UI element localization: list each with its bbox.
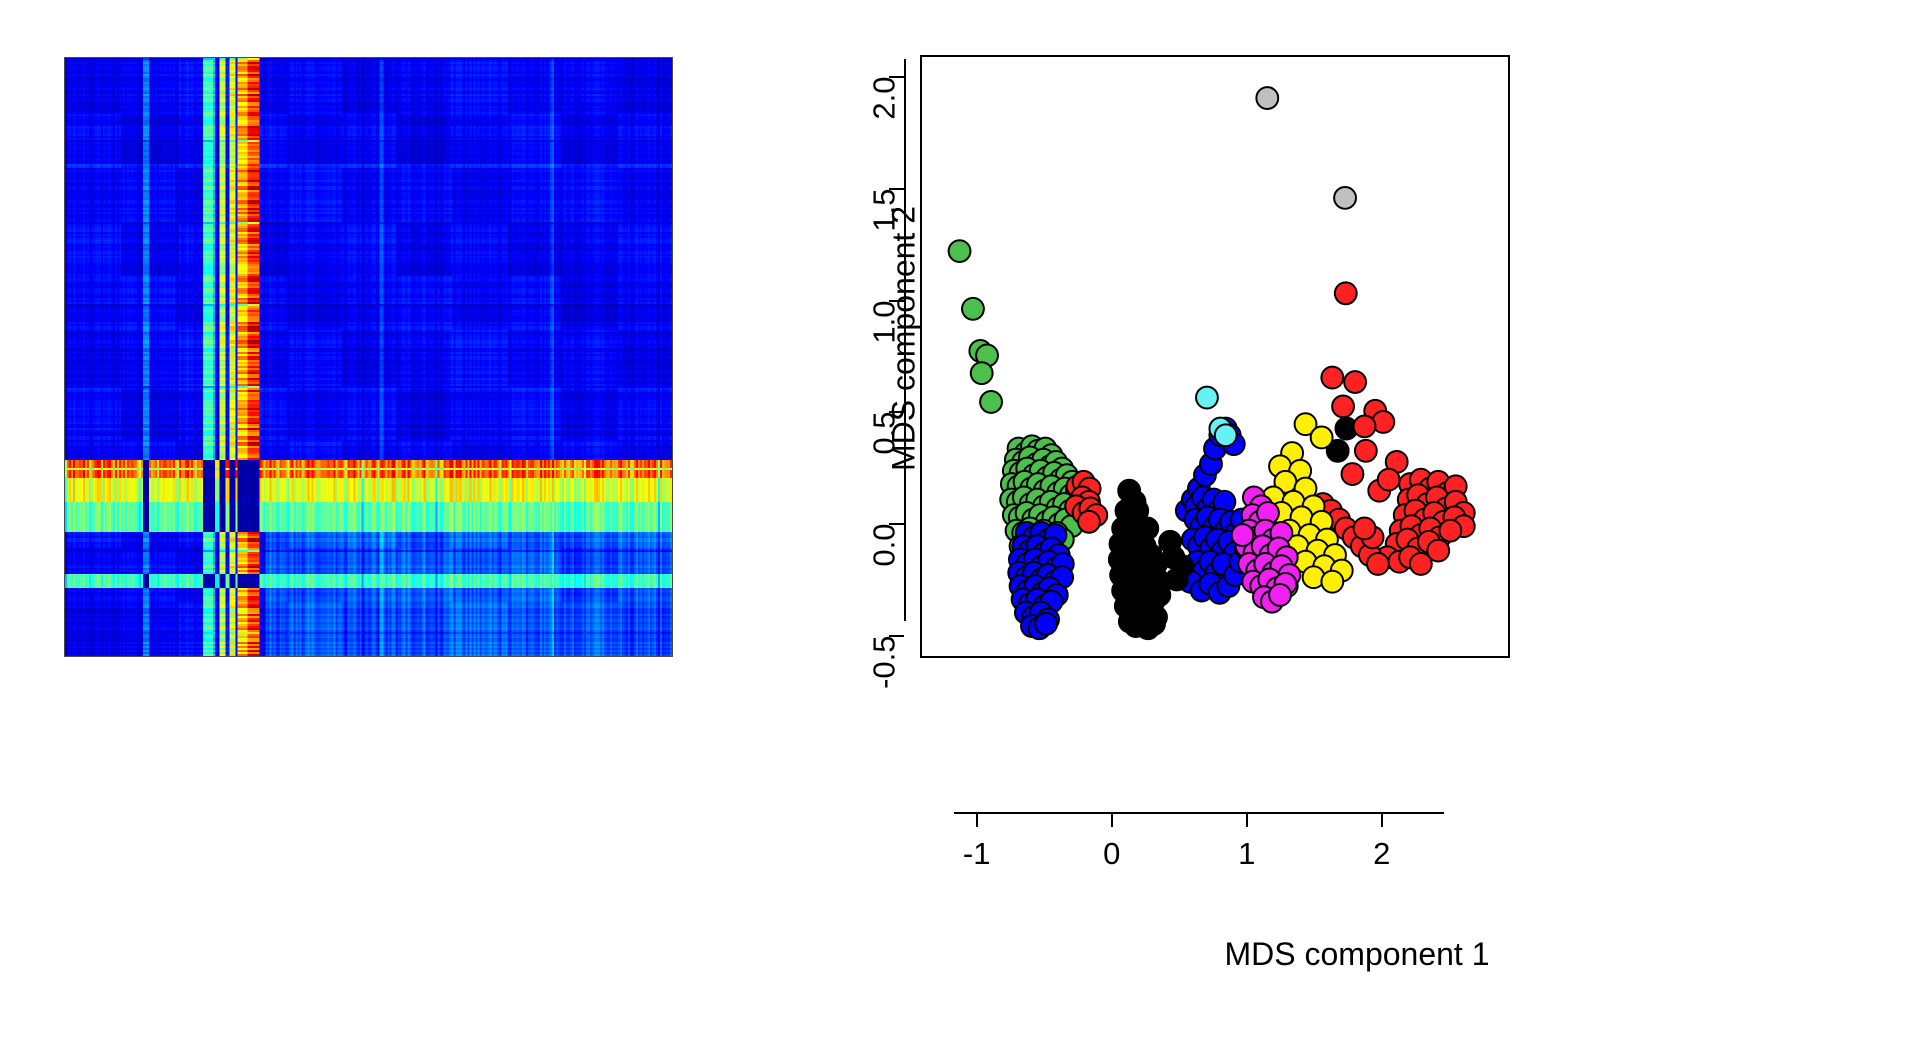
scatter-series-cyan bbox=[1196, 387, 1237, 447]
scatter-point bbox=[1355, 440, 1377, 462]
x-axis-tick-label: 1 bbox=[1217, 836, 1277, 872]
mds-scatter-panel: -0.50.00.51.01.52.0 MDS component 2 -101… bbox=[800, 0, 1914, 1038]
heatmap-panel bbox=[0, 0, 800, 1038]
x-axis-tick bbox=[1381, 812, 1383, 827]
heatmap-canvas bbox=[65, 58, 672, 656]
scatter-point bbox=[1439, 520, 1461, 542]
scatter-point bbox=[1342, 463, 1364, 485]
scatter-point bbox=[1321, 367, 1343, 389]
scatter-point bbox=[1232, 524, 1254, 546]
scatter-point bbox=[1344, 371, 1366, 393]
x-axis-tick bbox=[1246, 812, 1248, 827]
scatter-point bbox=[1171, 555, 1193, 577]
scatter-point bbox=[1215, 424, 1237, 446]
scatter-series-gray bbox=[1256, 87, 1356, 209]
scatter-point bbox=[1367, 553, 1389, 575]
scatter-points bbox=[922, 57, 1508, 656]
scatter-point bbox=[1410, 553, 1432, 575]
scatter-point bbox=[1143, 613, 1165, 635]
scatter-point bbox=[1335, 282, 1357, 304]
scatter-point bbox=[1311, 427, 1333, 449]
figure-root: -0.50.00.51.01.52.0 MDS component 2 -101… bbox=[0, 0, 1914, 1038]
y-axis-tick-label: -0.5 bbox=[869, 635, 900, 745]
scatter-point bbox=[1334, 187, 1356, 209]
scatter-point bbox=[1256, 87, 1278, 109]
scatter-point bbox=[1332, 395, 1354, 417]
scatter-plot-area[interactable] bbox=[920, 55, 1510, 658]
x-axis-tick bbox=[1111, 812, 1113, 827]
scatter-point bbox=[962, 298, 984, 320]
x-axis-tick-label: 2 bbox=[1352, 836, 1412, 872]
scatter-point bbox=[1321, 571, 1343, 593]
scatter-point bbox=[949, 240, 971, 262]
scatter-point bbox=[1196, 387, 1218, 409]
scatter-point bbox=[1078, 511, 1100, 533]
x-axis-tick bbox=[976, 812, 978, 827]
x-axis-title: MDS component 1 bbox=[800, 936, 1914, 973]
scatter-point bbox=[1378, 469, 1400, 491]
scatter-point bbox=[1354, 415, 1376, 437]
x-axis-tick-label: 0 bbox=[1082, 836, 1142, 872]
scatter-point bbox=[1354, 518, 1376, 540]
scatter-point bbox=[980, 391, 1002, 413]
heatmap-matrix bbox=[64, 57, 673, 657]
y-axis-title: MDS component 2 bbox=[886, 39, 923, 639]
x-axis-line bbox=[954, 812, 1444, 814]
scatter-point bbox=[971, 362, 993, 384]
scatter-point bbox=[1035, 613, 1057, 635]
scatter-point bbox=[1269, 584, 1291, 606]
x-axis-tick-label: -1 bbox=[947, 836, 1007, 872]
